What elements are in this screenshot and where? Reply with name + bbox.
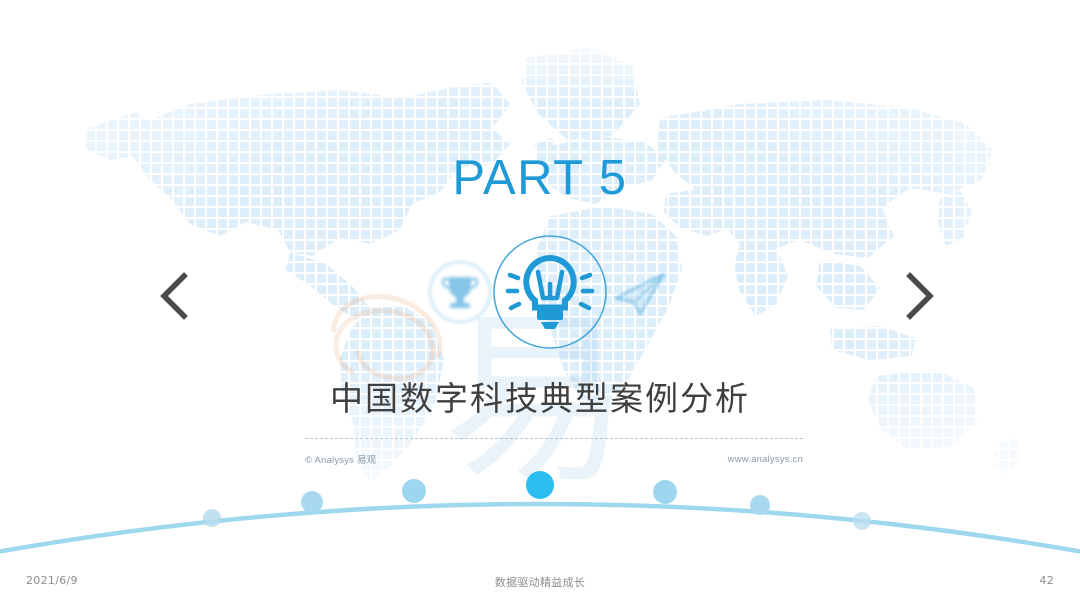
nav-dot-4[interactable]	[526, 471, 554, 499]
section-subtitle: 中国数字科技典型案例分析	[0, 372, 1080, 420]
chevron-right-icon[interactable]	[896, 268, 942, 324]
credit-divider	[305, 438, 803, 439]
copyright-text: © Analysys 易观	[305, 452, 376, 466]
part-label: PART 5	[0, 150, 1080, 206]
arc-line	[0, 504, 1080, 555]
footer-page-number: 42	[1039, 574, 1054, 587]
chevron-left-icon[interactable]	[152, 268, 198, 324]
progress-arc	[0, 455, 1080, 565]
credit-block: © Analysys 易观 www.analysys.cn	[305, 438, 803, 466]
nav-dot-2[interactable]	[301, 491, 323, 513]
nav-dot-6[interactable]	[750, 495, 770, 515]
paper-plane-icon	[580, 232, 700, 352]
nav-dot-7[interactable]	[853, 512, 871, 530]
nav-dots[interactable]	[203, 471, 871, 530]
nav-dot-1[interactable]	[203, 509, 221, 527]
website-url[interactable]: www.analysys.cn	[728, 454, 803, 465]
footer-tagline: 数据驱动精益成长	[0, 574, 1080, 590]
slide-canvas: 易 PART 5	[0, 0, 1080, 608]
nav-dot-5[interactable]	[653, 480, 677, 504]
slide-footer: 2021/6/9 数据驱动精益成长 42	[0, 560, 1080, 608]
nav-dot-3[interactable]	[402, 479, 426, 503]
